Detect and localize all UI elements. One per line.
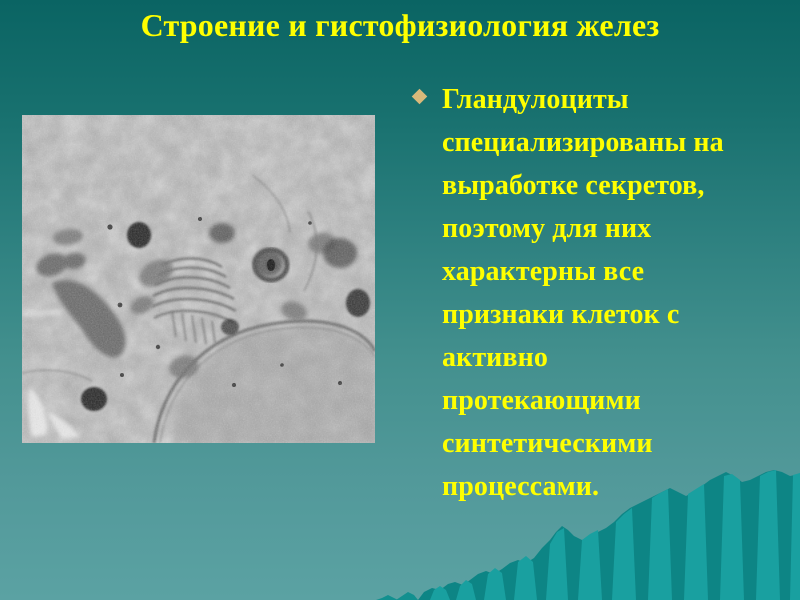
bullet-line: протекающими bbox=[442, 385, 641, 416]
diamond-bullet-icon bbox=[412, 89, 428, 105]
bullet-item[interactable]: Гландулоциты специализированы на выработ… bbox=[408, 78, 788, 508]
bullet-line: синтетическими bbox=[442, 428, 653, 459]
bullet-line: Гландулоциты bbox=[442, 84, 629, 115]
bullet-line: активно bbox=[442, 342, 548, 373]
bullet-line: поэтому для них bbox=[442, 213, 651, 244]
electron-micrograph-image: Электронная микрофотография гландулоцита… bbox=[22, 115, 375, 443]
bullet-line: специализированы на bbox=[442, 127, 724, 158]
bullet-line: признаки клеток с bbox=[442, 299, 679, 330]
ridge-foothills bbox=[376, 592, 418, 600]
bullet-line: выработке секретов, bbox=[442, 170, 704, 201]
bullet-line: характерны все bbox=[442, 256, 644, 287]
slide-title: Строение и гистофизиология желез bbox=[0, 8, 800, 44]
micrograph-picture[interactable]: Электронная микрофотография гландулоцита… bbox=[22, 115, 375, 443]
content-placeholder[interactable]: Гландулоциты специализированы на выработ… bbox=[408, 78, 788, 508]
presentation-slide: Строение и гистофизиология желез Электро… bbox=[0, 0, 800, 600]
bullet-line: процессами. bbox=[442, 471, 599, 502]
bullet-text: Гландулоциты специализированы на выработ… bbox=[442, 78, 788, 508]
